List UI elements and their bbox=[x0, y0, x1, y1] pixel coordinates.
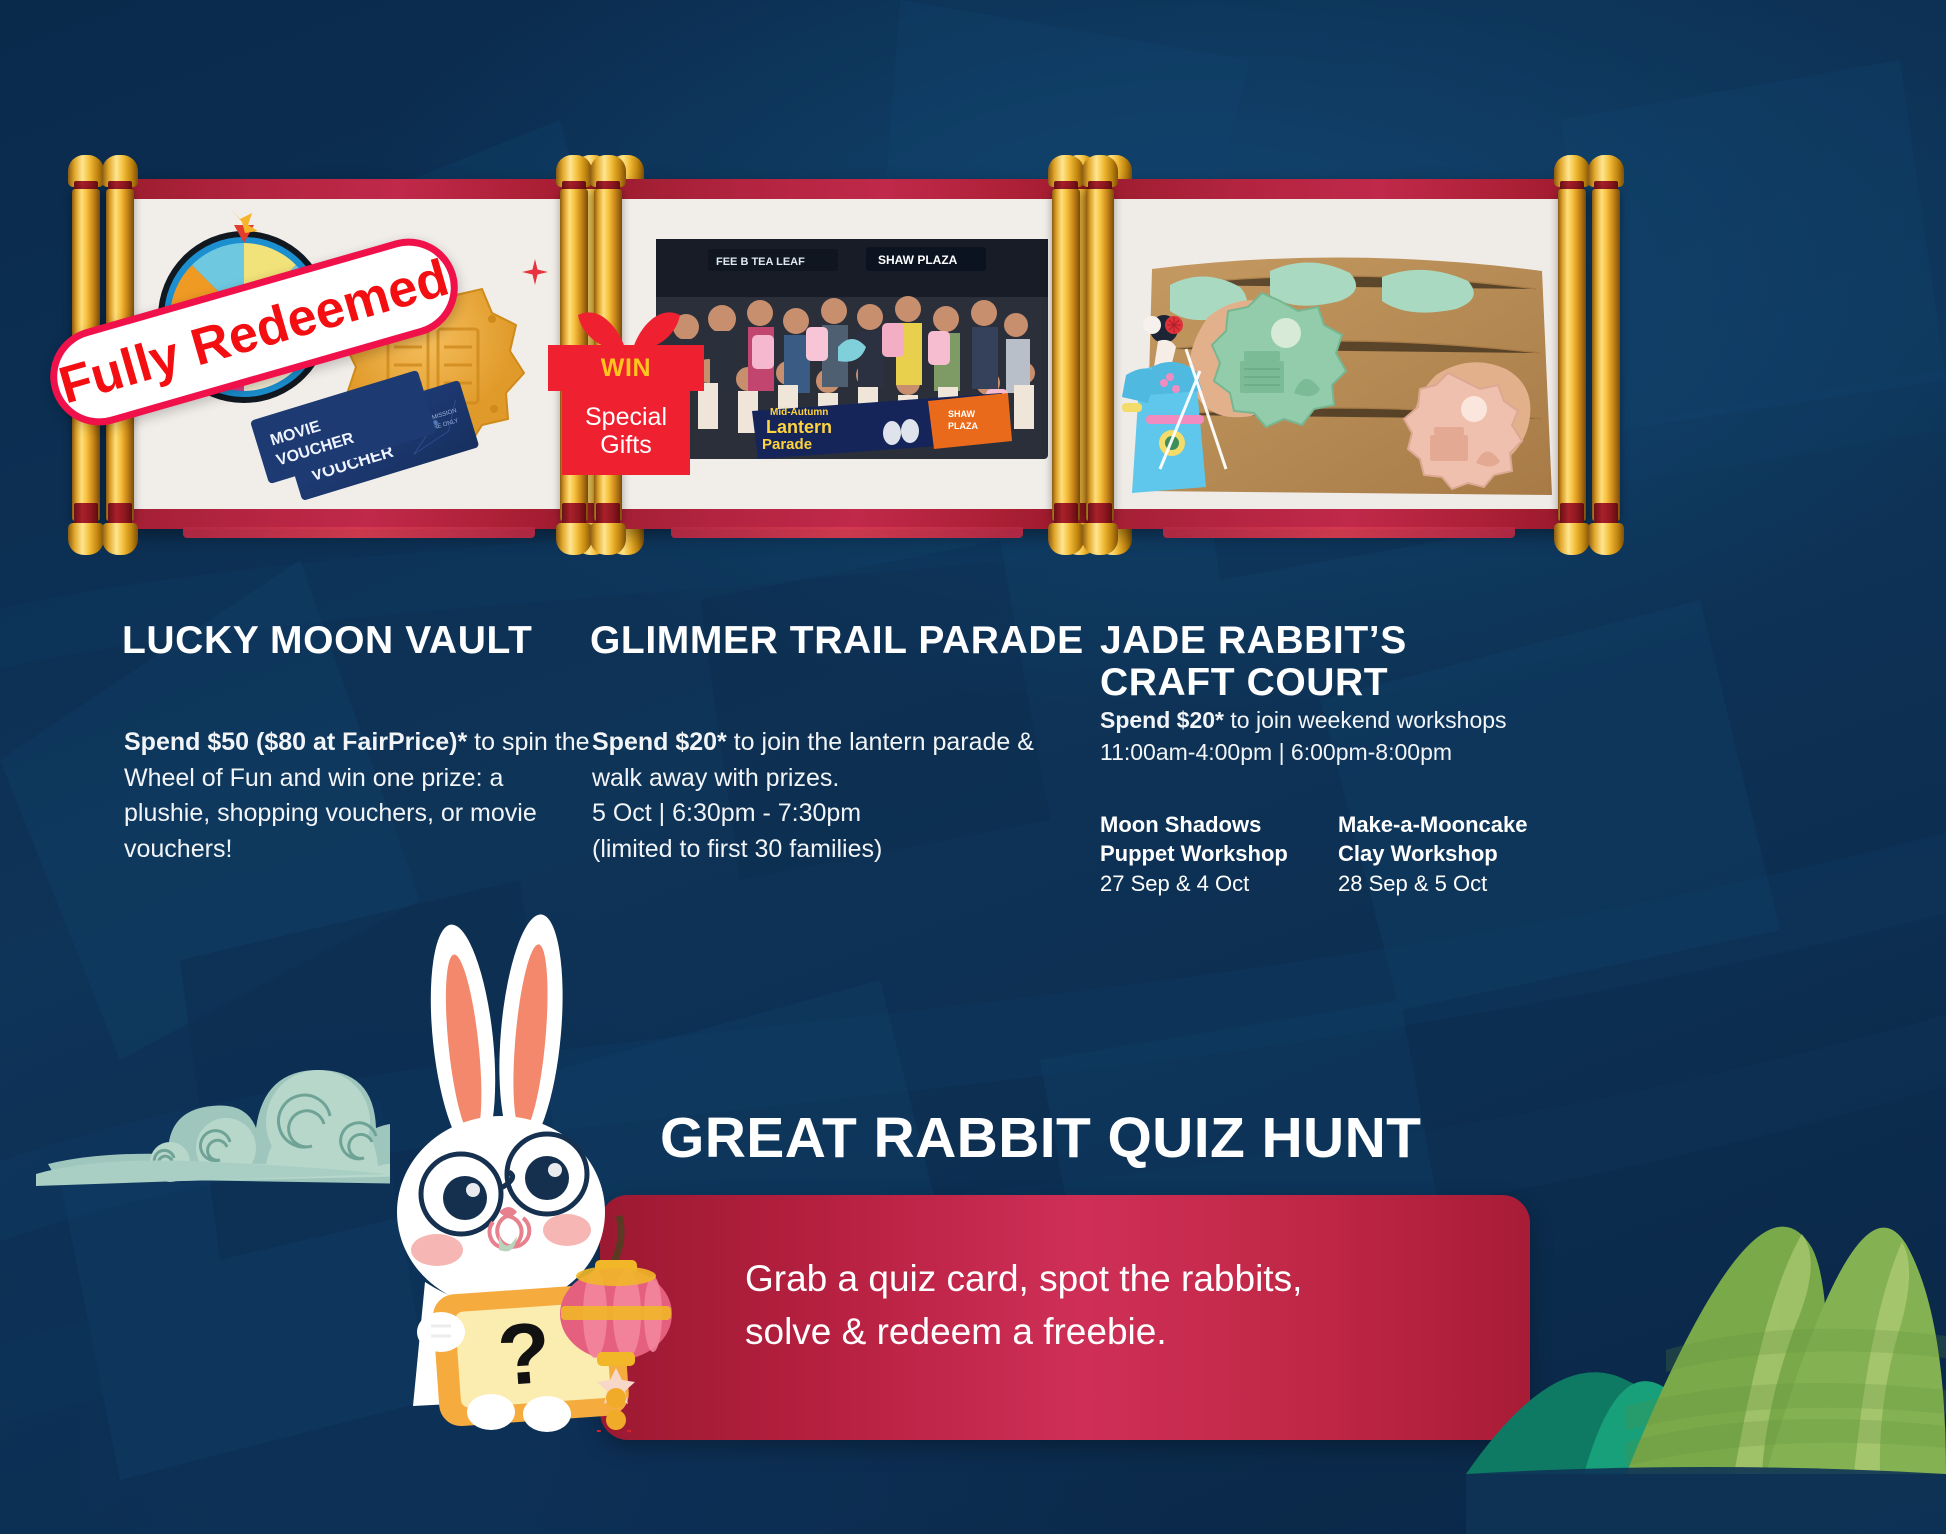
card-body-hours: 11:00am-4:00pm | 6:00pm-8:00pm bbox=[1100, 739, 1452, 765]
card-body-jade-rabbits-craft-court: Spend $20* to join weekend workshops 11:… bbox=[1100, 705, 1550, 768]
svg-text:FEE B TEA LEAF: FEE B TEA LEAF bbox=[716, 256, 805, 268]
rabbit-mascot-icon: ? bbox=[395, 912, 725, 1432]
gift-box: Special Gifts bbox=[562, 387, 690, 475]
win-special-gifts-badge: WIN Special Gifts bbox=[554, 327, 704, 477]
workshop-list: Moon Shadows Puppet Workshop 27 Sep & 4 … bbox=[1100, 810, 1550, 898]
svg-text:SHAW PLAZA: SHAW PLAZA bbox=[878, 253, 958, 267]
workshop-name-line-2: Puppet Workshop bbox=[1100, 839, 1290, 868]
promotions-row: MOVIE VOUCHER ADMISSION ONE ONLY MOVIE V… bbox=[0, 0, 1946, 960]
gift-line-1: Special bbox=[585, 403, 667, 431]
card-body-lucky-moon-vault: Spend $50 ($80 at FairPrice)* to spin th… bbox=[124, 725, 594, 867]
svg-text:SHAW: SHAW bbox=[948, 409, 976, 419]
card-body-lead: Spend $20* bbox=[1100, 707, 1224, 733]
card-title-line-2: CRAFT COURT bbox=[1100, 662, 1620, 704]
workshop-dates: 28 Sep & 5 Oct bbox=[1338, 869, 1528, 898]
card-body-rest: to join weekend workshops bbox=[1224, 707, 1507, 733]
svg-text:PLAZA: PLAZA bbox=[948, 421, 978, 431]
card-body-lead: Spend $50 ($80 at FairPrice)* bbox=[124, 728, 467, 756]
card-body-time: 5 Oct | 6:30pm - 7:30pm bbox=[592, 799, 861, 827]
scroll-rod-left-outer bbox=[1048, 155, 1084, 555]
question-mark-glyph: ? bbox=[495, 1305, 554, 1404]
cloud-decoration-icon bbox=[30, 1010, 390, 1210]
quiz-text-line-1: Grab a quiz card, spot the rabbits, bbox=[745, 1253, 1465, 1306]
quiz-hunt-title: GREAT RABBIT QUIZ HUNT bbox=[660, 1105, 1660, 1171]
svg-text:Lantern: Lantern bbox=[766, 417, 832, 437]
sparkle-icon bbox=[522, 259, 548, 285]
card-title-jade-rabbits-craft-court: JADE RABBIT’S CRAFT COURT bbox=[1100, 620, 1620, 704]
workshop-item[interactable]: Moon Shadows Puppet Workshop 27 Sep & 4 … bbox=[1100, 810, 1290, 898]
svg-text:Parade: Parade bbox=[762, 436, 812, 453]
quiz-text-line-2: solve & redeem a freebie. bbox=[745, 1306, 1465, 1359]
card-title-line-1: JADE RABBIT’S bbox=[1100, 620, 1620, 662]
workshop-name-line-1: Make-a-Mooncake bbox=[1338, 810, 1528, 839]
promo-image-mooncake-craft bbox=[1112, 199, 1566, 509]
quiz-hunt-banner[interactable]: Grab a quiz card, spot the rabbits, solv… bbox=[600, 1195, 1530, 1440]
quiz-hunt-section: GREAT RABBIT QUIZ HUNT Grab a quiz card,… bbox=[0, 940, 1946, 1534]
scroll-rod-right-inner bbox=[1554, 155, 1590, 555]
card-body-lead: Spend $20* bbox=[592, 728, 727, 756]
scroll-frame bbox=[1036, 155, 1636, 555]
card-body-limit: (limited to first 30 families) bbox=[592, 835, 882, 863]
promo-card-jade-rabbits-craft-court[interactable]: JADE RABBIT’S CRAFT COURT Spend $20* to … bbox=[1022, 0, 1642, 960]
gift-lid: WIN bbox=[548, 345, 704, 391]
workshop-name-line-2: Clay Workshop bbox=[1338, 839, 1528, 868]
scroll-rod-left-inner bbox=[1082, 155, 1118, 555]
gift-win-label: WIN bbox=[601, 354, 651, 383]
workshop-item[interactable]: Make-a-Mooncake Clay Workshop 28 Sep & 5… bbox=[1338, 810, 1528, 898]
quiz-hunt-text: Grab a quiz card, spot the rabbits, solv… bbox=[745, 1253, 1465, 1358]
workshop-name-line-1: Moon Shadows bbox=[1100, 810, 1290, 839]
card-body-glimmer-trail-parade: Spend $20* to join the lantern parade & … bbox=[592, 725, 1062, 867]
mountain-decoration-icon bbox=[1466, 1174, 1946, 1534]
scroll-paper bbox=[1112, 199, 1566, 509]
gift-line-2: Gifts bbox=[600, 431, 651, 459]
workshop-dates: 27 Sep & 4 Oct bbox=[1100, 869, 1290, 898]
scroll-rod-right-outer bbox=[1588, 155, 1624, 555]
